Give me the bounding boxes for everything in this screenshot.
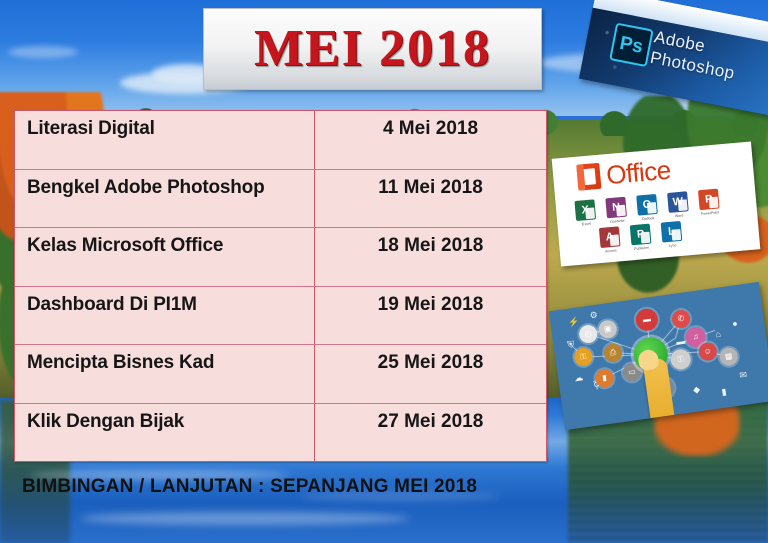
excel-icon: X <box>574 199 596 221</box>
cloud-shape <box>8 46 78 58</box>
home-icon: ⌂ <box>715 330 722 340</box>
bulb-icon: ● <box>732 319 739 329</box>
gear-icon: ⚙ <box>589 311 598 321</box>
date-cell: 27 Mei 2018 <box>315 404 546 462</box>
plug-icon: ⚡ <box>568 317 580 327</box>
office-app-powerpoint: P PowerPoint <box>697 188 721 217</box>
office-app-access: A Access <box>598 226 622 255</box>
app-label: OneNote <box>607 218 627 225</box>
water-highlight <box>80 512 410 525</box>
router-icon: ▬ <box>676 337 686 347</box>
table-row: Literasi Digital 4 Mei 2018 <box>15 111 546 170</box>
date-cell: 18 Mei 2018 <box>315 228 546 286</box>
footer-note: BIMBINGAN / LANJUTAN : SEPANJANG MEI 201… <box>22 476 477 498</box>
schedule-table: Literasi Digital 4 Mei 2018 Bengkel Adob… <box>14 110 547 462</box>
date-cell: 4 Mei 2018 <box>315 111 546 169</box>
cloud-icon: ☁ <box>574 373 584 383</box>
access-icon: A <box>599 226 621 248</box>
microsoft-office-card: Office X Excel N OneNote O Outlook W Wor <box>552 141 761 266</box>
lync-icon: L <box>661 221 683 243</box>
photoshop-icon: Ps <box>609 23 654 68</box>
activity-cell: Literasi Digital <box>15 111 315 169</box>
date-cell: 19 Mei 2018 <box>315 287 546 345</box>
office-app-icons: X Excel N OneNote O Outlook W Word P P <box>573 186 749 259</box>
date-cell: 25 Mei 2018 <box>315 345 546 403</box>
app-label: Access <box>601 248 621 255</box>
office-app-excel: X Excel <box>573 199 597 228</box>
office-header: Office <box>576 157 671 191</box>
activity-cell: Kelas Microsoft Office <box>15 228 315 286</box>
car-icon: ▮ <box>721 387 727 397</box>
table-row: Dashboard Di PI1M 19 Mei 2018 <box>15 287 546 346</box>
onenote-icon: N <box>605 197 627 219</box>
office-logo-icon <box>576 163 601 191</box>
table-row: Bengkel Adobe Photoshop 11 Mei 2018 <box>15 170 546 229</box>
app-label: Outlook <box>638 215 658 222</box>
shield-icon: ⛨ <box>567 340 575 350</box>
app-label: Publisher <box>632 245 652 252</box>
table-row: Mencipta Bisnes Kad 25 Mei 2018 <box>15 345 546 404</box>
office-app-word: W Word <box>666 191 690 220</box>
outlook-icon: O <box>636 194 658 216</box>
activity-cell: Klik Dengan Bijak <box>15 404 315 462</box>
office-app-lync: L Lync <box>660 221 684 250</box>
office-app-publisher: P Publisher <box>629 224 653 253</box>
word-icon: W <box>667 191 689 213</box>
page-title: MEI 2018 <box>254 23 491 75</box>
app-label: Word <box>669 212 689 219</box>
title-banner: MEI 2018 <box>203 8 542 90</box>
date-cell: 11 Mei 2018 <box>315 170 546 228</box>
activity-cell: Dashboard Di PI1M <box>15 287 315 345</box>
powerpoint-icon: P <box>698 189 720 211</box>
table-row: Kelas Microsoft Office 18 Mei 2018 <box>15 228 546 287</box>
droplet-icon: ◆ <box>692 385 700 395</box>
app-label: Excel <box>576 221 596 228</box>
office-wordmark: Office <box>605 157 671 189</box>
activity-cell: Mencipta Bisnes Kad <box>15 345 315 403</box>
office-app-onenote: N OneNote <box>604 197 628 226</box>
poster-canvas: MEI 2018 Literasi Digital 4 Mei 2018 Ben… <box>0 0 768 543</box>
mail-icon: ✉ <box>739 370 748 380</box>
office-app-outlook: O Outlook <box>635 194 659 223</box>
table-row: Klik Dengan Bijak 27 Mei 2018 <box>15 404 546 462</box>
activity-cell: Bengkel Adobe Photoshop <box>15 170 315 228</box>
app-label: PowerPoint <box>700 210 720 217</box>
app-label: Lync <box>663 242 683 249</box>
publisher-icon: P <box>630 224 652 246</box>
